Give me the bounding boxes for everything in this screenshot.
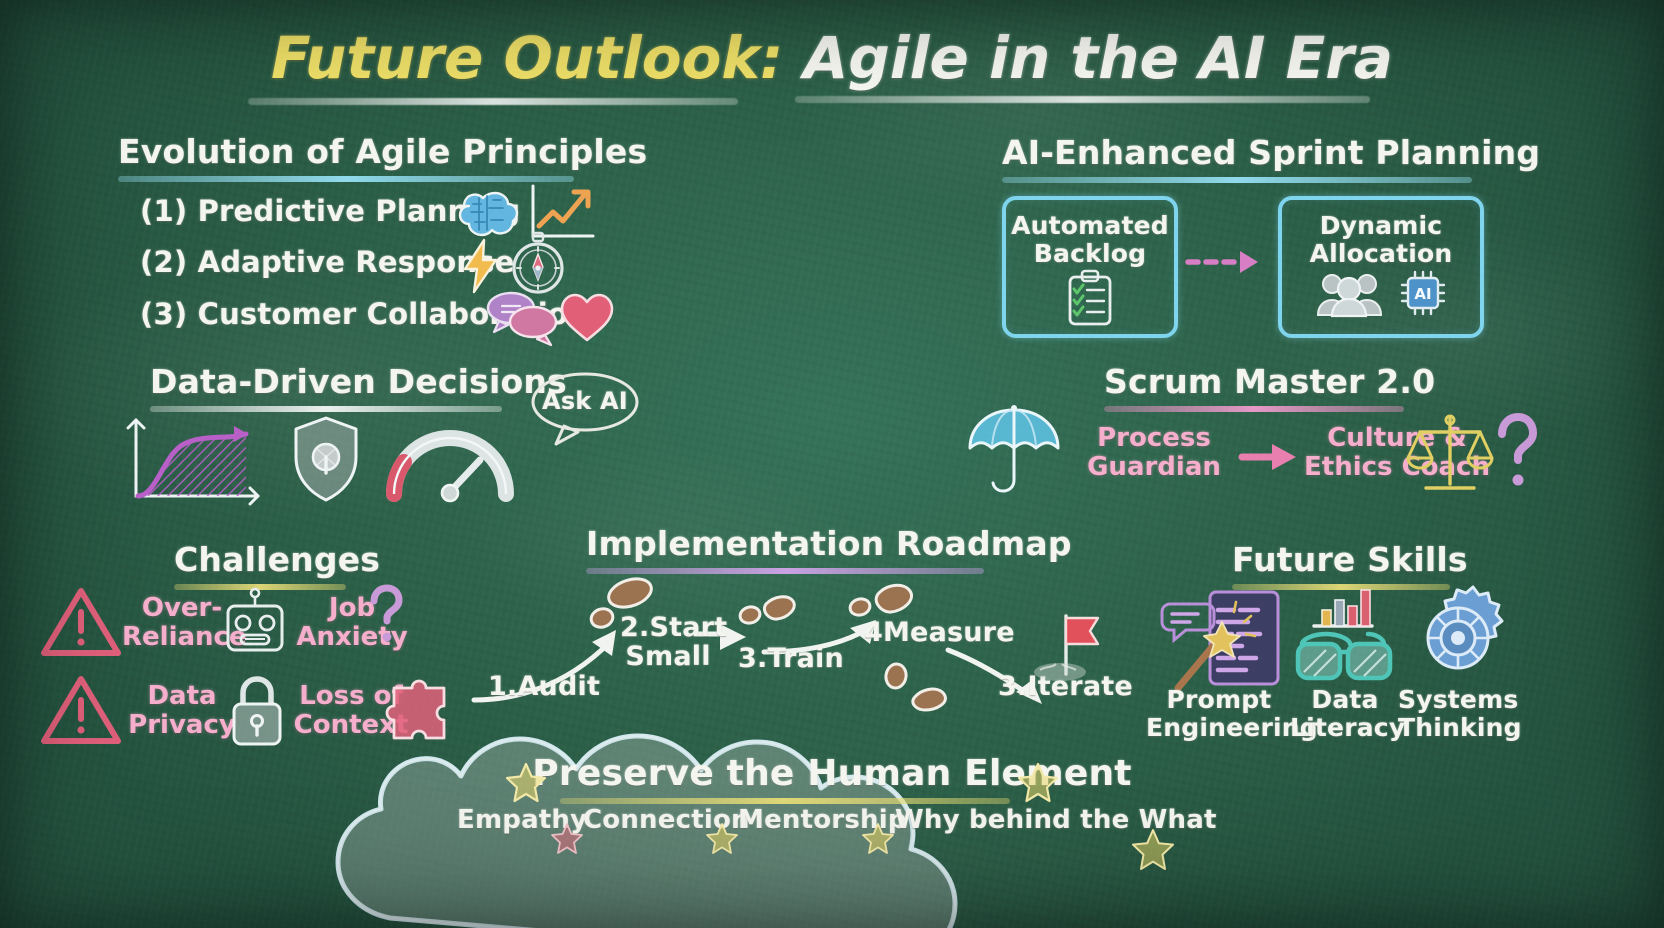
roadmap-step-2-label: 2.Start Small — [620, 613, 716, 671]
section-data-driven-heading: Data-Driven Decisions — [150, 362, 567, 401]
star-icon-right — [1018, 762, 1058, 802]
title-underline-left — [248, 98, 738, 105]
section-scrum-heading: Scrum Master 2.0 — [1104, 362, 1435, 401]
skill-3-line2: Thinking — [1398, 714, 1518, 742]
page-title: Future Outlook: Agile in the AI Era — [0, 24, 1664, 92]
question-mark-icon — [1492, 412, 1542, 494]
section-evolution-heading: Evolution of Agile Principles — [118, 132, 647, 171]
section-evolution: Evolution of Agile Principles — [118, 132, 647, 171]
section-challenges: Challenges — [174, 540, 380, 579]
section-data-driven-underline — [150, 406, 502, 412]
area-chart-icon — [126, 418, 266, 510]
section-human-underline — [560, 798, 1010, 804]
chalkboard-canvas: Future Outlook: Agile in the AI Era Evol… — [0, 0, 1664, 928]
star-icon-divider-1 — [551, 822, 583, 854]
sprint-box-left-line1: Automated — [1006, 200, 1174, 240]
star-icon-divider-4 — [1132, 828, 1174, 870]
sprint-box-dynamic-allocation[interactable]: Dynamic Allocation AI — [1278, 196, 1484, 338]
umbrella-icon — [966, 404, 1062, 494]
gauge-icon — [384, 418, 516, 506]
roadmap-step-4-label: 4Measure — [864, 618, 1015, 647]
team-group-icon — [1315, 269, 1385, 317]
section-skills: Future Skills — [1232, 540, 1468, 579]
warning-triangle-icon-2 — [40, 674, 122, 746]
page-title-secondary: Agile in the AI Era — [783, 24, 1393, 92]
skill-3-label: Systems Thinking — [1398, 686, 1518, 742]
compass-icon — [508, 232, 568, 296]
section-scrum: Scrum Master 2.0 — [1104, 362, 1435, 401]
section-sprint-heading: AI-Enhanced Sprint Planning — [1002, 133, 1540, 172]
flag-icon — [1030, 612, 1110, 682]
scrum-from-label: Process Guardian — [1074, 424, 1234, 482]
roadmap-step-2-line1: 2.Start — [620, 613, 716, 642]
shield-icon — [290, 415, 362, 503]
section-sprint: AI-Enhanced Sprint Planning — [1002, 133, 1540, 172]
ask-ai-bubble-label: Ask AI — [530, 387, 640, 415]
speech-bubbles-icon — [483, 288, 561, 346]
roadmap-step-1-label: 1.Audit — [488, 672, 600, 701]
scales-icon — [1404, 412, 1496, 496]
section-roadmap-underline — [586, 568, 984, 574]
ai-chip-icon: AI — [1399, 269, 1447, 317]
clipboard-checklist-icon — [1006, 269, 1174, 327]
dashed-arrow-right-icon — [1186, 248, 1268, 276]
section-challenges-heading: Challenges — [174, 540, 380, 579]
star-icon-left — [506, 762, 546, 802]
skill-3-line1: Systems — [1398, 686, 1518, 714]
section-scrum-underline — [1104, 406, 1404, 412]
heart-icon — [558, 290, 616, 344]
page-title-primary: Future Outlook: — [271, 24, 783, 92]
challenge-3-label: Data Privacy — [122, 682, 242, 740]
warning-triangle-icon-1 — [40, 586, 122, 658]
sprint-box-right-line1: Dynamic — [1282, 200, 1480, 240]
challenge-3-line1: Data — [122, 682, 242, 711]
section-skills-heading: Future Skills — [1232, 540, 1468, 579]
robot-icon — [219, 588, 291, 660]
padlock-icon — [226, 672, 288, 748]
glasses-barchart-icon — [1292, 588, 1398, 692]
scrum-from-line2: Guardian — [1074, 453, 1234, 482]
sprint-box-left-line2: Backlog — [1006, 240, 1174, 268]
section-roadmap-heading: Implementation Roadmap — [586, 524, 1072, 563]
star-icon-divider-2 — [706, 822, 738, 854]
lightning-bolt-icon — [459, 238, 501, 294]
challenge-3-line2: Privacy — [122, 711, 242, 740]
roadmap-step-3-label: 3.Train — [738, 644, 844, 673]
section-human-heading: Preserve the Human Element — [0, 753, 1664, 794]
magic-wand-document-icon — [1160, 588, 1284, 694]
roadmap-step-2-line2: Small — [620, 642, 716, 671]
gear-icon — [1406, 586, 1510, 690]
svg-text:AI: AI — [1414, 285, 1431, 303]
section-data-driven: Data-Driven Decisions — [150, 362, 567, 401]
star-icon-divider-3 — [862, 822, 894, 854]
section-roadmap: Implementation Roadmap — [586, 524, 1072, 563]
sprint-box-automated-backlog[interactable]: Automated Backlog — [1002, 196, 1178, 338]
section-evolution-underline — [118, 176, 574, 182]
question-mark-icon-2 — [366, 584, 410, 646]
section-sprint-underline — [1002, 177, 1472, 183]
scrum-from-line1: Process — [1074, 424, 1234, 453]
title-underline-right — [795, 96, 1370, 103]
sprint-box-right-line2: Allocation — [1282, 240, 1480, 268]
